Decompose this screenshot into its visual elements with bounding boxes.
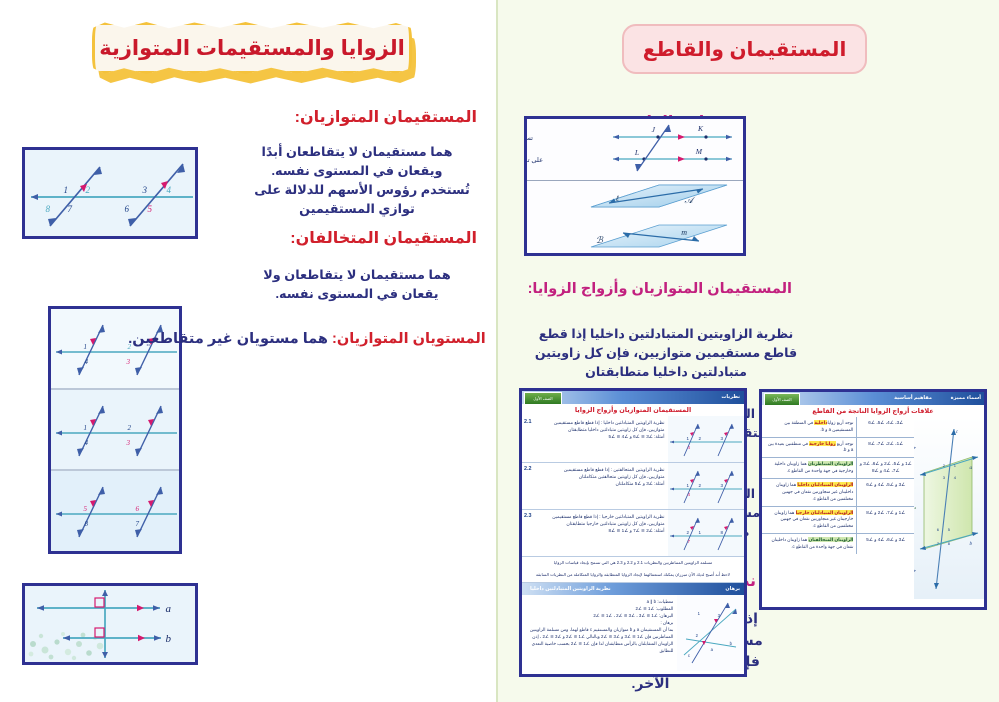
book-theorems-header: نظريات الصف الأول [522,391,744,404]
theorem-row: 1 2 4 3 2.1 نظرية الزاويتين المتبادلتين … [522,416,744,463]
svg-text:3: 3 [126,358,131,366]
svg-text:c: c [688,653,690,658]
book-theorems-title: المستقيمان المتوازيان وأزواج الزوايا [522,404,744,416]
angle-table-symbols: ∠1 و ∠5، ∠2 و ∠6، ∠3 و ∠7، ∠4 و ∠8 [856,458,914,478]
angle-table-caption: علاقات أزواج الزوايا الناتجة من القاطع [762,405,984,417]
angle-table-header-tab: الصف الأول [764,393,800,406]
theorem-row-figure: 1 2 4 3 [669,463,744,509]
theorem-row-figure: 2 1 7 8 [669,510,744,556]
theorem-figure-svg: 1 2 4 3 [668,463,744,509]
theorem-row-text: 2.2 نظرية الزاويتين المتحالفتين : إذا قط… [522,463,669,509]
svg-text:m: m [681,228,687,237]
theorem-number: 2.3 [524,513,532,519]
proof-text: معطيات: a ∥ b المطلوب: ∠1 ≅ ∠2 البرهان: … [522,595,677,671]
svg-text:7: 7 [68,204,73,214]
text-theorem-alternate-interior: نظرية الزاويتين المتبادلتين داخليا إذا ق… [527,325,805,382]
theorem-row: 1 2 4 3 2.2 نظرية الزاويتين المتحالفتين … [522,463,744,510]
book-theorems-header-text: نظريات [721,391,740,404]
theorem-row-text: 2.3 نظرية الزاويتين المتبادلتين خارجيا :… [522,510,669,556]
svg-text:K: K [697,124,704,133]
parallel-planes-key: المستويان المتوازيان: [332,331,486,347]
theorem-line-3: أمثلة: ∠3 ≅ ∠6 و ∠4 ≅ ∠5 [524,433,665,440]
proof-figure: 1 3 2 a b c [677,595,744,671]
text-skew-line-2: يقعان في المستوى نفسه. [237,285,477,304]
svg-text:3: 3 [126,439,131,447]
svg-text:M: M [695,147,703,156]
angle-table-row: ∠3، ∠4، ∠5، ∠6 توجد أربع زواياداخلية في … [762,417,914,438]
theorem-line-1: نظرية الزاويتين المتحالفتين : إذا قطع قا… [524,466,665,473]
book-note-1: مسلمة الزاويتين المتناظرتين والنظريات 2.… [522,557,744,569]
theorem-line-2: متوازيين، فإن كل زاويتين متبادلتين خارجي… [524,520,665,527]
theorem-line-3: أمثلة: ∠2 ≅ ∠7 و ∠1 ≅ ∠8 [524,527,665,534]
angle-table-header-text-2: مفاهيم أساسية [894,392,932,405]
figure-book-angle-table: أسماء مميزة مفاهيم أساسية الصف الأول علا… [759,389,987,610]
panel-divider [496,0,498,702]
angle-table-desc: توجد أربع زوايا خارجية في منطقتين بعيدة … [762,438,856,458]
theorem-line-3: أمثلة: ∠3 و ∠5 متكاملتان [524,480,665,487]
parallel-planes-value: هما مستويان غير متقاطعين. [128,331,328,347]
theorem-row: 2 1 7 8 2.3 نظرية الزاويتين المتبادلتين … [522,510,744,557]
angle-table-figure-svg: خارجية داخلية خارجية c a b 12 43 56 87 [914,417,984,599]
figure-label-line-a: a [166,603,172,615]
svg-text:ℬ: ℬ [596,235,604,245]
angle-fig-label-exterior-top: خارجية [914,445,916,450]
theorem-number: 2.2 [524,466,532,472]
text-parallel-line-2: ويقعان في المستوى نفسه. [237,162,477,181]
book-caption-line-2: على توازي مستقيمين. [527,157,543,164]
figure-book-arrows-planes: J K L M تستعمل رؤوس الأسهم للدلالة على ت… [524,116,746,256]
page-title-right: المستقيمان والقاطع [622,24,867,74]
svg-text:7: 7 [136,520,140,528]
theorem-number: 2.1 [524,419,532,425]
proof-header-label: برهان [725,583,740,595]
book-planes-svg: ℓ 𝒜 m ℬ [527,181,743,253]
text-parallel-line-4: توازي المستقيمين [237,200,477,219]
text-parallel-line-3: تُستخدم رؤوس الأسهم للدلالة على [237,181,487,200]
page-title-left: الزوايا والمستقيمات المتوازية [92,22,412,74]
proof-line: المطلوب: ∠1 ≅ ∠2 [526,605,673,612]
theorem-row-text: 2.1 نظرية الزاويتين المتبادلتين داخليا :… [522,416,669,462]
angle-table-row: ∠1 و ∠7، ∠2 و ∠8 الزاويتان المتبادلتان خ… [762,507,914,534]
angle-table-symbols: ∠1 و ∠7، ∠2 و ∠8 [856,507,914,533]
svg-text:4: 4 [85,358,89,366]
svg-text:8: 8 [46,204,51,214]
proof-line: الزاويتان المتقابلتان بالرأس متطابقتان ل… [526,640,673,654]
angle-table-desc: الزاويتان المتحالفتان هما زاويتان داخليت… [762,534,856,554]
theorem-row-figure: 1 2 4 3 [669,416,744,462]
proof-line: المتناظرتين فإن ∠1 ≅ ∠3 و ∠3 ≅ ∠2 وبالتا… [526,633,673,640]
book-note-2: لاحظ أنه أصبح لديك الآن مبرران يمكنك است… [522,569,744,582]
heading-parallel-lines: المستقيمان المتوازيان: [237,108,477,129]
svg-text:L: L [634,148,639,157]
poster-root: الزوايا والمستقيمات المتوازية المستقيمان… [0,0,999,702]
figure-perpendicular: a b [22,583,198,665]
angle-table-row: ∠1، ∠2، ∠7، ∠8 توجد أربع زوايا خارجية في… [762,438,914,459]
svg-text:6: 6 [136,505,140,513]
angle-table-symbols: ∠3، ∠4، ∠5، ∠6 [856,417,914,437]
text-parallel-line-1: هما مستقيمان لا يتقاطعان أبدًا [237,143,477,162]
svg-text:6: 6 [125,204,130,214]
proof-header: برهان نظرية الزاويتين المتبادلتين داخليا [522,583,744,595]
svg-text:1: 1 [84,424,88,432]
svg-text:1: 1 [64,185,69,195]
angle-table-row: ∠3 و ∠6، ∠4 و ∠5 الزاويتان المتحالفتان ه… [762,534,914,554]
right-title-banner: المستقيمان والقاطع [622,24,867,74]
svg-text:2: 2 [128,424,132,432]
angle-table-header-text: أسماء مميزة [951,392,981,405]
angle-table-symbols: ∠1، ∠2، ∠7، ∠8 [856,438,914,458]
angle-table-wrap: خارجية داخلية خارجية c a b 12 43 56 87 ∠… [762,417,984,599]
heading-skew-lines: المستقيمان المتخالفان: [237,229,477,250]
angle-fig-label-interior: داخلية [914,505,916,510]
book-caption-line-1: تستعمل رؤوس الأسهم للدلالة [527,133,533,142]
svg-text:8: 8 [85,520,89,528]
svg-text:4: 4 [85,439,89,447]
proof-line: معطيات: a ∥ b [526,598,673,605]
proof-figure-svg: 1 3 2 a b c [678,595,744,671]
angle-table-desc: الزاويتان المتبادلتان داخليا هما زاويتان… [762,479,856,505]
proof-line: البرهان: ∠1 ≅ ∠3 ، ∠3 ≅ ∠2 ، ∠1 ≅ ∠2 [526,612,673,619]
proof-line: برهان : [526,619,673,626]
angle-table-row: ∠1 و ∠5، ∠2 و ∠6، ∠3 و ∠7، ∠4 و ∠8 الزاو… [762,458,914,479]
angle-table-desc: الزاويتان المتبادلتان خارجيا هما زاويتان… [762,507,856,533]
theorem-line-2: متوازيين، فإن كل زاويتين متبادلتين داخلي… [524,426,665,433]
angle-table-desc: الزاويتان المتناظرتان هما زاويتان داخلية… [762,458,856,478]
angle-fig-label-exterior-bottom: خارجية [914,568,916,573]
svg-text:1: 1 [84,343,88,351]
svg-text:5: 5 [84,505,88,513]
svg-text:4: 4 [167,185,172,195]
figure-angles-1-8-svg: 1 2 3 4 5 6 7 8 [25,150,195,236]
theorem-line-1: نظرية الزاويتين المتبادلتين داخليا : إذا… [524,419,665,426]
svg-text:2: 2 [86,185,91,195]
proof-body: 1 3 2 a b c معطيات: a ∥ b المطلوب: ∠1 ≅ … [522,595,744,671]
angle-table-header: أسماء مميزة مفاهيم أساسية الصف الأول [762,392,984,405]
theorem-line-2: متوازيين، فإن كل زاويتين متحالفتين متكام… [524,473,665,480]
proof-header-title: نظرية الزاويتين المتبادلتين داخليا [530,583,611,595]
heading-angle-pairs: المستقيمان المتوازيان وأزواج الزوايا: [527,280,792,298]
angle-table-symbols: ∠3 و ∠5، ∠4 و ∠6 [856,479,914,505]
theorem-figure-svg: 1 2 4 3 [668,416,744,462]
angle-table-rows: ∠3، ∠4، ∠5، ∠6 توجد أربع زواياداخلية في … [762,417,914,599]
angle-table-row: ∠3 و ∠5، ∠4 و ∠6 الزاويتان المتبادلتان د… [762,479,914,506]
angle-table-figure: خارجية داخلية خارجية c a b 12 43 56 87 [914,417,984,599]
left-title-banner: الزوايا والمستقيمات المتوازية [92,22,420,84]
book-arrows-svg: J K L M تستعمل رؤوس الأسهم للدلالة على ت… [527,119,743,179]
text-parallel-planes: المستويان المتوازيان: هما مستويان غير مت… [127,330,487,349]
svg-text:3: 3 [142,185,148,195]
figure-angles-1-8: 1 2 3 4 5 6 7 8 [22,147,198,239]
svg-text:5: 5 [148,204,153,214]
theorem-figure-svg: 2 1 7 8 [668,510,744,556]
text-skew-line-1: هما مستقيمان لا يتقاطعان ولا [237,266,477,285]
figure-label-line-b: b [166,633,172,645]
proof-line: بما أن المستقيمان a و b متوازيان والمستق… [526,626,673,633]
angle-table-symbols: ∠3 و ∠6، ∠4 و ∠5 [856,534,914,554]
figure-book-theorems: نظريات الصف الأول المستقيمان المتوازيان … [519,388,747,677]
angle-table-desc: توجد أربع زواياداخلية في المنطقة بين الم… [762,417,856,437]
theorem-line-1: نظرية الزاويتين المتبادلتين خارجيا : إذا… [524,513,665,520]
figure-perpendicular-svg: a b [25,586,195,662]
